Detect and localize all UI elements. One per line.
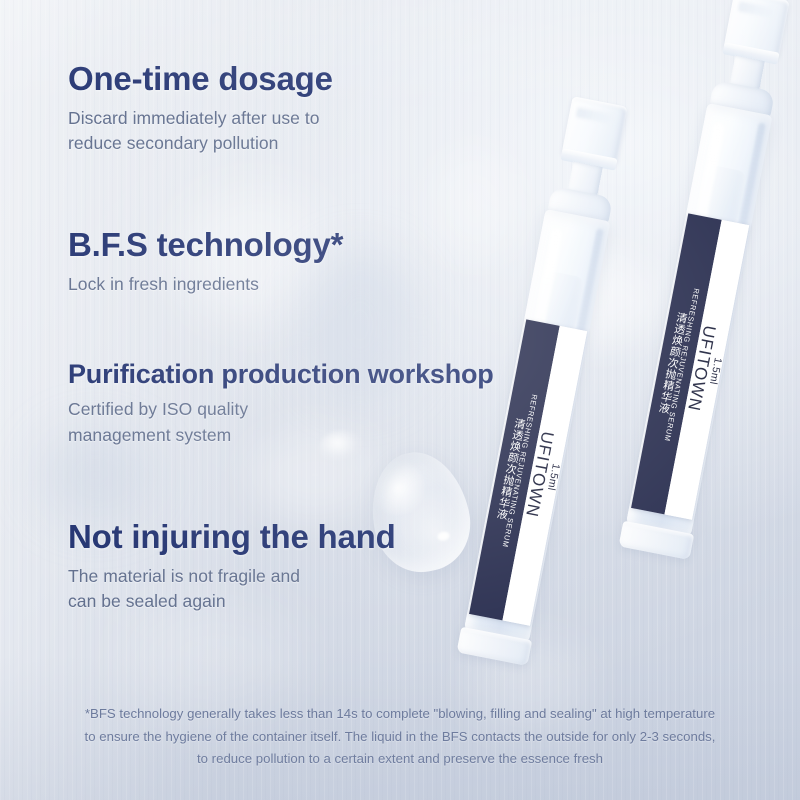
background-bokeh-blob	[120, 600, 300, 720]
feature-block-purification-workshop: Purification production workshop Certifi…	[68, 360, 494, 448]
feature-block-bfs-technology: B.F.S technology* Lock in fresh ingredie…	[68, 228, 343, 297]
serum-ampoule-back: 清透焕颜次抛精华液 REFRESHING REJUVENATING SERUM …	[604, 0, 800, 593]
feature-description-line: management system	[68, 425, 231, 445]
ampoule-twist-cap	[562, 96, 628, 164]
feature-description-line: can be sealed again	[68, 591, 226, 611]
feature-description-line: Lock in fresh ingredients	[68, 274, 259, 294]
background-bokeh-blob	[430, 150, 520, 260]
feature-heading: One-time dosage	[68, 62, 333, 97]
footnote-disclaimer: *BFS technology generally takes less tha…	[0, 703, 800, 771]
feature-description: Certified by ISO quality management syst…	[68, 397, 494, 448]
feature-description: The material is not fragile and can be s…	[68, 564, 396, 615]
feature-description-line: Discard immediately after use to	[68, 108, 320, 128]
feature-block-one-time-dosage: One-time dosage Discard immediately afte…	[68, 62, 333, 156]
product-label: 清透焕颜次抛精华液 REFRESHING REJUVENATING SERUM …	[631, 213, 749, 519]
product-feature-poster: 清透焕颜次抛精华液 REFRESHING REJUVENATING SERUM …	[0, 0, 800, 800]
feature-heading: Not injuring the hand	[68, 520, 396, 555]
feature-description: Lock in fresh ingredients	[68, 272, 343, 297]
footnote-line: to ensure the hygiene of the container i…	[0, 726, 800, 749]
feature-description: Discard immediately after use to reduce …	[68, 106, 333, 157]
feature-description-line: Certified by ISO quality	[68, 399, 248, 419]
feature-description-line: reduce secondary pollution	[68, 133, 278, 153]
ampoule-twist-cap	[724, 0, 790, 58]
feature-heading: Purification production workshop	[68, 360, 494, 388]
footnote-line: to reduce pollution to a certain extent …	[0, 748, 800, 771]
footnote-line: *BFS technology generally takes less tha…	[0, 703, 800, 726]
feature-block-not-injuring-hand: Not injuring the hand The material is no…	[68, 520, 396, 614]
feature-heading: B.F.S technology*	[68, 228, 343, 263]
feature-description-line: The material is not fragile and	[68, 566, 300, 586]
